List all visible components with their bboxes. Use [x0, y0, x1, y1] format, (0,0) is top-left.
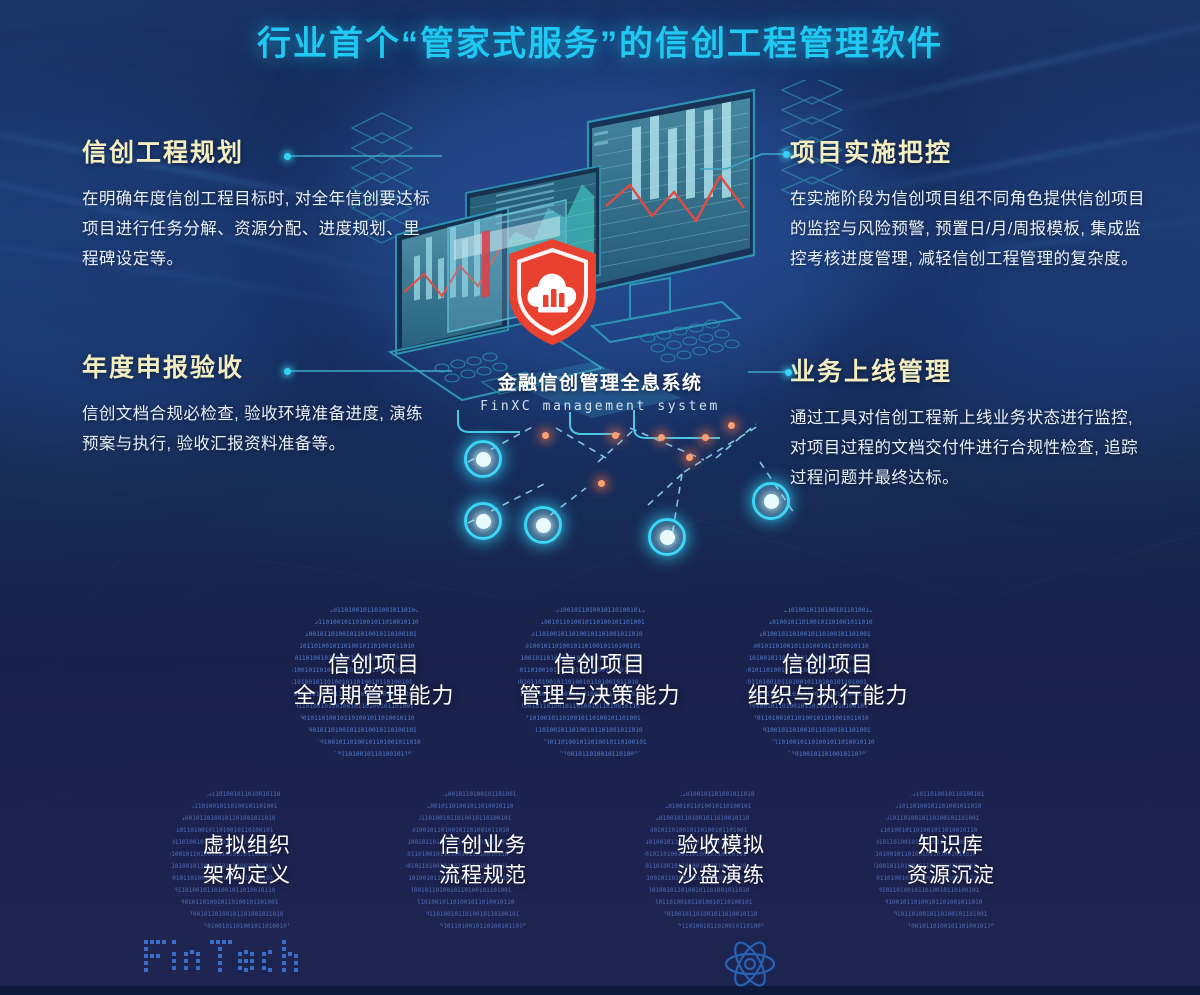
- svg-text:011010010110100101101001011010: 0110100101101001011010010110100101: [290, 727, 417, 734]
- capability-circle: 101001011010010110100101101001 010110100…: [404, 782, 562, 940]
- feature-body: 在明确年度信创工程目标时, 对全年信创要达标项目进行任务分解、资源分配、进度规划…: [82, 184, 432, 274]
- feature-heading: 信创工程规划: [82, 133, 244, 169]
- capability-circle: 0101101001011010010110100101101001 10100…: [290, 596, 458, 764]
- svg-text:011010010110100101101001011010: 0110100101101001011010010110100101: [290, 631, 417, 638]
- svg-text:100101101001011010010110100101: 1001011010010110100101101001011010: [516, 631, 643, 638]
- svg-text:010110100101101001011010010110: 010110100101101001011010010110: [642, 815, 750, 822]
- capability-circle: 011010010110100101101001011010 100101101…: [642, 782, 800, 940]
- capability-circle: 1010010110100101101001011010010110 01011…: [516, 596, 684, 764]
- capability-label: 验收模拟 沙盘演练: [677, 831, 765, 891]
- feature-body: 信创文档合规必检查, 验收环境准备进度, 演练预案与执行, 验收汇报资料准备等。: [82, 399, 432, 459]
- feature-block-planning: 信创工程规划 在明确年度信创工程目标时, 对全年信创要达标项目进行任务分解、资源…: [82, 133, 432, 274]
- feature-heading: 年度申报验收: [82, 348, 244, 384]
- feature-body: 在实施阶段为信创项目组不同角色提供信创项目的监控与风险预警, 预置日/月/周报模…: [790, 184, 1150, 274]
- network-node: [752, 482, 790, 520]
- system-name-cn: 金融信创管理全息系统: [380, 368, 820, 395]
- svg-text:011010010110100101101001011010: 011010010110100101101001011010: [175, 911, 284, 918]
- capability-label: 信创项目 全周期管理能力: [293, 649, 454, 711]
- svg-text:010110100101101001011010010110: 010110100101101001011010010110: [649, 911, 758, 918]
- network-node: [524, 506, 562, 544]
- page-title: 行业首个“管家式服务”的信创工程管理软件: [0, 16, 1200, 65]
- network-dot: [598, 480, 605, 487]
- network-node: [648, 518, 686, 556]
- system-name-block: 金融信创管理全息系统 FinXC management system: [380, 368, 820, 414]
- capability-label: 信创项目 组织与执行能力: [747, 649, 908, 711]
- svg-text:100101101001011010010110100101: 100101101001011010010110100101: [404, 815, 512, 822]
- svg-text:010110100101101001011010010110: 0101101001011010010110100101101001: [744, 631, 871, 638]
- feature-heading: 项目实施把控: [790, 133, 952, 169]
- svg-text:101001011010010110100101101001: 101001011010010110100101101001: [170, 899, 279, 906]
- capability-label: 知识库 资源沉淀: [907, 831, 995, 891]
- feature-block-implementation: 项目实施把控 在实施阶段为信创项目组不同角色提供信创项目的监控与风险预警, 预置…: [790, 133, 1150, 274]
- svg-text:100101101001011010010110100101: 1001011010010110100101101001011010: [744, 715, 869, 722]
- feature-block-annual-acceptance: 年度申报验收 信创文档合规必检查, 验收环境准备进度, 演练预案与执行, 验收汇…: [82, 348, 432, 459]
- feature-block-business-launch: 业务上线管理 通过工具对信创工程新上线业务状态进行监控, 对项目过程的文档交付件…: [790, 352, 1150, 493]
- svg-text:101001011010010110100101101001: 101001011010010110100101101001: [872, 815, 980, 822]
- capability-label: 信创项目 管理与决策能力: [519, 649, 680, 711]
- network-node: [464, 502, 502, 540]
- svg-text:011010010110100101101001011010: 011010010110100101101001011010: [168, 815, 276, 822]
- capability-circle: 100101101001011010010110100101 011010010…: [872, 782, 1030, 940]
- network-dot: [728, 422, 735, 429]
- svg-text:010110100101101001011010010110: 010110100101101001011010010110: [406, 899, 515, 906]
- capability-label: 信创业务 流程规范: [439, 831, 527, 891]
- capability-circle: 0110100101101001011010010110100101 10010…: [744, 596, 912, 764]
- shield-cloud-chart-icon: [505, 237, 600, 347]
- svg-text:101001011010010110100101101001: 101001011010010110100101101001: [879, 911, 988, 918]
- capability-circle: 010110100101101001011010010110 101001011…: [168, 782, 326, 940]
- network-dot: [542, 432, 549, 439]
- svg-text:100101101001011010010110100101: 100101101001011010010110100101: [644, 899, 753, 906]
- network-dot: [658, 434, 665, 441]
- network-dot: [702, 434, 709, 441]
- svg-text:011010010110100101101001011010: 011010010110100101101001011010: [874, 899, 983, 906]
- atom-orbit-icon: [716, 930, 784, 990]
- svg-text:100101101001011010010110100101: 1001011010010110100101101001011010: [516, 727, 643, 734]
- svg-text:010110100101101001011010010110: 0101101001011010010110100101101001: [516, 715, 641, 722]
- svg-text:100101101001011010010110100101: 100101101001011010010110100101: [411, 911, 520, 918]
- svg-text:101001011010010110100101101001: 1010010110100101101001011010010110: [290, 715, 415, 722]
- feature-heading: 业务上线管理: [790, 352, 952, 388]
- capability-label: 虚拟组织 架构定义: [203, 831, 291, 891]
- feature-body: 通过工具对信创工程新上线业务状态进行监控, 对项目过程的文档交付件进行合规性检查…: [790, 403, 1150, 493]
- network-dot: [612, 432, 619, 439]
- network-dot: [686, 454, 693, 461]
- svg-text:010110100101101001011010010110: 0101101001011010010110100101101001: [744, 727, 871, 734]
- network-node: [464, 440, 502, 478]
- fintech-watermark: [142, 932, 332, 978]
- node-network: [420, 410, 840, 550]
